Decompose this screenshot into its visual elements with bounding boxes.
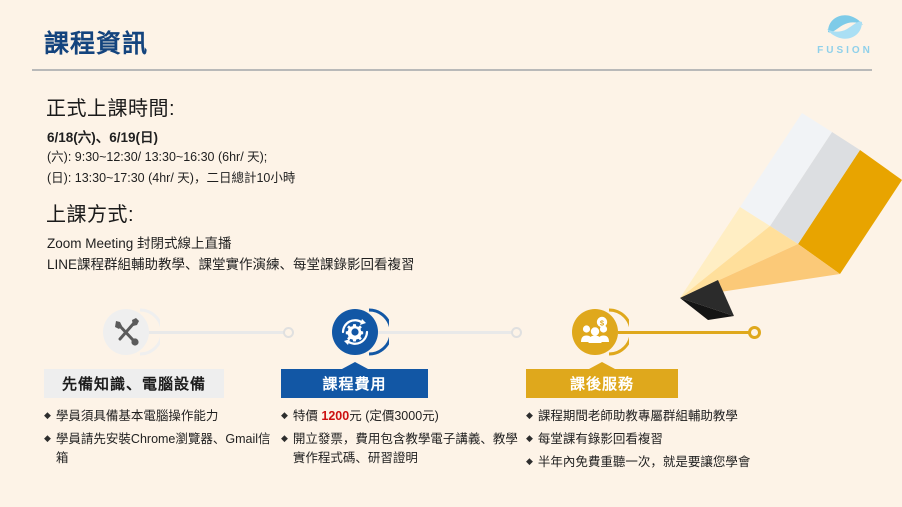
banner-notch-icon	[342, 362, 368, 369]
brand-logo: FUSION	[806, 10, 884, 56]
bullet-list-fee: ◆ 特價 1200元 (定價3000元) ◆ 開立發票，費用包含教學電子講義、教…	[281, 407, 519, 468]
brand-name: FUSION	[806, 45, 884, 56]
connector-dot-1	[283, 327, 294, 338]
price-suffix: 元 (定價3000元)	[349, 409, 439, 423]
diamond-bullet-icon: ◆	[526, 430, 533, 449]
connector-2	[378, 331, 518, 334]
price-prefix: 特價	[293, 409, 321, 423]
list-item-text: 每堂課有錄影回看複習	[538, 430, 866, 449]
banner-label: 先備知識、電腦設備	[62, 373, 206, 394]
list-item: ◆ 課程期間老師助教專屬群組輔助教學	[526, 407, 866, 426]
connector-1	[145, 331, 290, 334]
column-banner-prerequisites: 先備知識、電腦設備	[44, 369, 224, 398]
slide-root: FUSION 課程資訊 正式上課時間: 6/18(六)、6/19(日) (六):…	[0, 0, 902, 507]
mode-zoom: Zoom Meeting 封閉式線上直播	[47, 232, 232, 252]
banner-label: 課程費用	[322, 373, 386, 394]
fusion-swirl-logo	[822, 10, 868, 44]
timeline-node-service[interactable]: $	[572, 309, 618, 355]
bullet-list-prerequisites: ◆ 學員須具備基本電腦操作能力 ◆ 學員請先安裝Chrome瀏覽器、Gmail信…	[44, 407, 274, 468]
section-heading-schedule: 正式上課時間:	[46, 92, 175, 121]
list-item: ◆ 半年內免費重聽一次，就是要讓您學會	[526, 453, 866, 472]
banner-notch-icon	[589, 362, 615, 369]
column-banner-fee: 課程費用	[281, 369, 428, 398]
schedule-dates: 6/18(六)、6/19(日)	[47, 126, 158, 146]
banner-label: 課後服務	[570, 373, 634, 394]
price-value: 1200	[321, 409, 349, 423]
list-item: ◆ 每堂課有錄影回看複習	[526, 430, 866, 449]
list-item-text: 半年內免費重聽一次，就是要讓您學會	[538, 453, 866, 472]
list-item-text: 特價 1200元 (定價3000元)	[293, 407, 519, 426]
list-item-text: 課程期間老師助教專屬群組輔助教學	[538, 407, 866, 426]
schedule-sunday: (日): 13:30~17:30 (4hr/ 天)，二日總計10小時	[47, 167, 295, 186]
list-item-text: 學員須具備基本電腦操作能力	[56, 407, 274, 426]
list-item: ◆ 開立發票，費用包含教學電子講義、教學實作程式碼、研習證明	[281, 430, 519, 468]
section-heading-mode: 上課方式:	[46, 198, 134, 227]
diamond-bullet-icon: ◆	[526, 407, 533, 426]
diamond-bullet-icon: ◆	[526, 453, 533, 472]
timeline-node-tools[interactable]	[103, 309, 149, 355]
column-service: 課後服務 ◆ 課程期間老師助教專屬群組輔助教學 ◆ 每堂課有錄影回看複習 ◆ 半…	[526, 369, 866, 476]
diamond-bullet-icon: ◆	[44, 407, 51, 426]
bullet-list-service: ◆ 課程期間老師助教專屬群組輔助教學 ◆ 每堂課有錄影回看複習 ◆ 半年內免費重…	[526, 407, 866, 472]
list-item-text: 學員請先安裝Chrome瀏覽器、Gmail信箱	[56, 430, 274, 468]
list-item: ◆ 學員請先安裝Chrome瀏覽器、Gmail信箱	[44, 430, 274, 468]
page-title: 課程資訊	[44, 31, 148, 59]
mode-line-group: LINE課程群組輔助教學、課堂實作演練、每堂課錄影回看複習	[47, 253, 415, 273]
pencil-illustration	[612, 92, 902, 342]
connector-dot-3	[748, 326, 761, 339]
timeline-node-fee[interactable]	[332, 309, 378, 355]
connector-dot-2	[511, 327, 522, 338]
team-badge-icon: $	[572, 309, 618, 355]
connector-3	[618, 331, 756, 334]
list-item: ◆ 特價 1200元 (定價3000元)	[281, 407, 519, 426]
gear-sync-icon	[332, 309, 378, 355]
tools-icon	[103, 309, 149, 355]
list-item: ◆ 學員須具備基本電腦操作能力	[44, 407, 274, 426]
diamond-bullet-icon: ◆	[44, 430, 51, 468]
diamond-bullet-icon: ◆	[281, 407, 288, 426]
schedule-saturday: (六): 9:30~12:30/ 13:30~16:30 (6hr/ 天);	[47, 146, 267, 165]
column-prerequisites: 先備知識、電腦設備 ◆ 學員須具備基本電腦操作能力 ◆ 學員請先安裝Chrome…	[44, 369, 274, 472]
list-item-text: 開立發票，費用包含教學電子講義、教學實作程式碼、研習證明	[293, 430, 519, 468]
title-divider	[32, 69, 872, 71]
column-fee: 課程費用 ◆ 特價 1200元 (定價3000元) ◆ 開立發票，費用包含教學電…	[281, 369, 519, 472]
diamond-bullet-icon: ◆	[281, 430, 288, 468]
column-banner-service: 課後服務	[526, 369, 678, 398]
